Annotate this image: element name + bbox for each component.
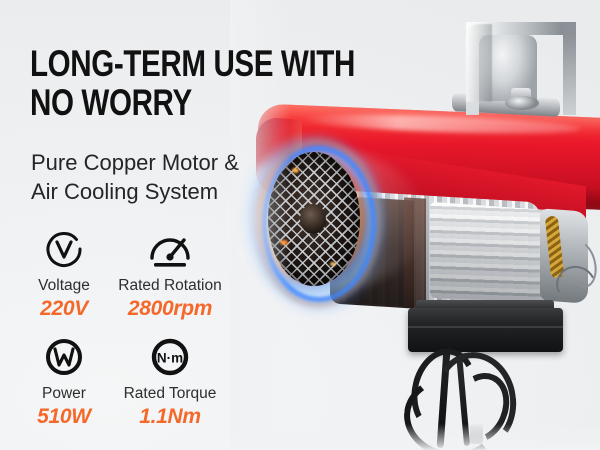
junction-box [408,308,563,352]
spec-value: 2800rpm [128,297,212,320]
cable-loop-4 [441,364,520,450]
spec-value: 510W [37,405,91,428]
svg-text:N·m: N·m [157,351,183,366]
motor-barrel-band [404,197,426,308]
bracket-shading [466,24,492,102]
cable-loop-3 [400,371,506,450]
spec-label: Power [42,385,86,402]
bracket-base-plate [452,93,560,117]
spec-rated-rotation: Rated Rotation 2800rpm [106,226,234,334]
bracket-inner-face [479,35,537,101]
brass-spring [545,215,564,278]
product-marketing-banner: LONG-TERM USE WITH NO WORRY Pure Copper … [0,0,600,450]
voltage-circle-v-icon [42,226,86,272]
spec-label: Rated Torque [124,385,217,402]
headline: LONG-TERM USE WITH NO WORRY [30,44,366,122]
spec-grid: Voltage 220V Rated Rotation 2800rpm [22,226,234,442]
glow-spark-2 [280,240,288,245]
cable-clip [470,424,483,444]
cable-straight-1 [437,350,451,448]
cable-loop-2 [428,347,523,450]
side-wire-loop-2 [561,237,600,291]
spec-rated-torque: N·m Rated Torque 1.1Nm [106,334,234,442]
heat-sink-shading [430,202,550,306]
photo-bottom-fade [230,424,600,450]
spec-label: Voltage [38,277,90,294]
glow-spark-3 [330,262,336,266]
cable-loop-1 [404,342,484,439]
side-wire-loop-1 [551,260,600,309]
spec-value: 1.1Nm [139,405,201,428]
spec-power: Power 510W [22,334,106,442]
fan-hub [300,204,326,234]
speedometer-gauge-icon [144,226,196,272]
motor-barrel [330,190,540,315]
torque-circle-nm-icon: N·m [148,334,192,380]
red-housing-lower [356,150,586,270]
bracket-bolt-head [511,88,531,101]
junction-box-seam [408,326,563,328]
junction-box-lid [416,300,554,312]
heat-sink-fins [430,202,550,306]
spec-label: Rated Rotation [118,277,221,294]
bracket-bolt-washer [505,96,539,110]
steel-mounting-bracket [466,22,576,115]
spec-voltage: Voltage 220V [22,226,106,334]
power-circle-w-icon [42,334,86,380]
motor-barrel-dark-section [330,195,414,308]
spec-value: 220V [40,297,88,320]
subheadline: Pure Copper Motor & Air Cooling System [31,148,361,206]
cable-straight-2 [456,352,470,446]
motor-end-cap [540,208,588,303]
